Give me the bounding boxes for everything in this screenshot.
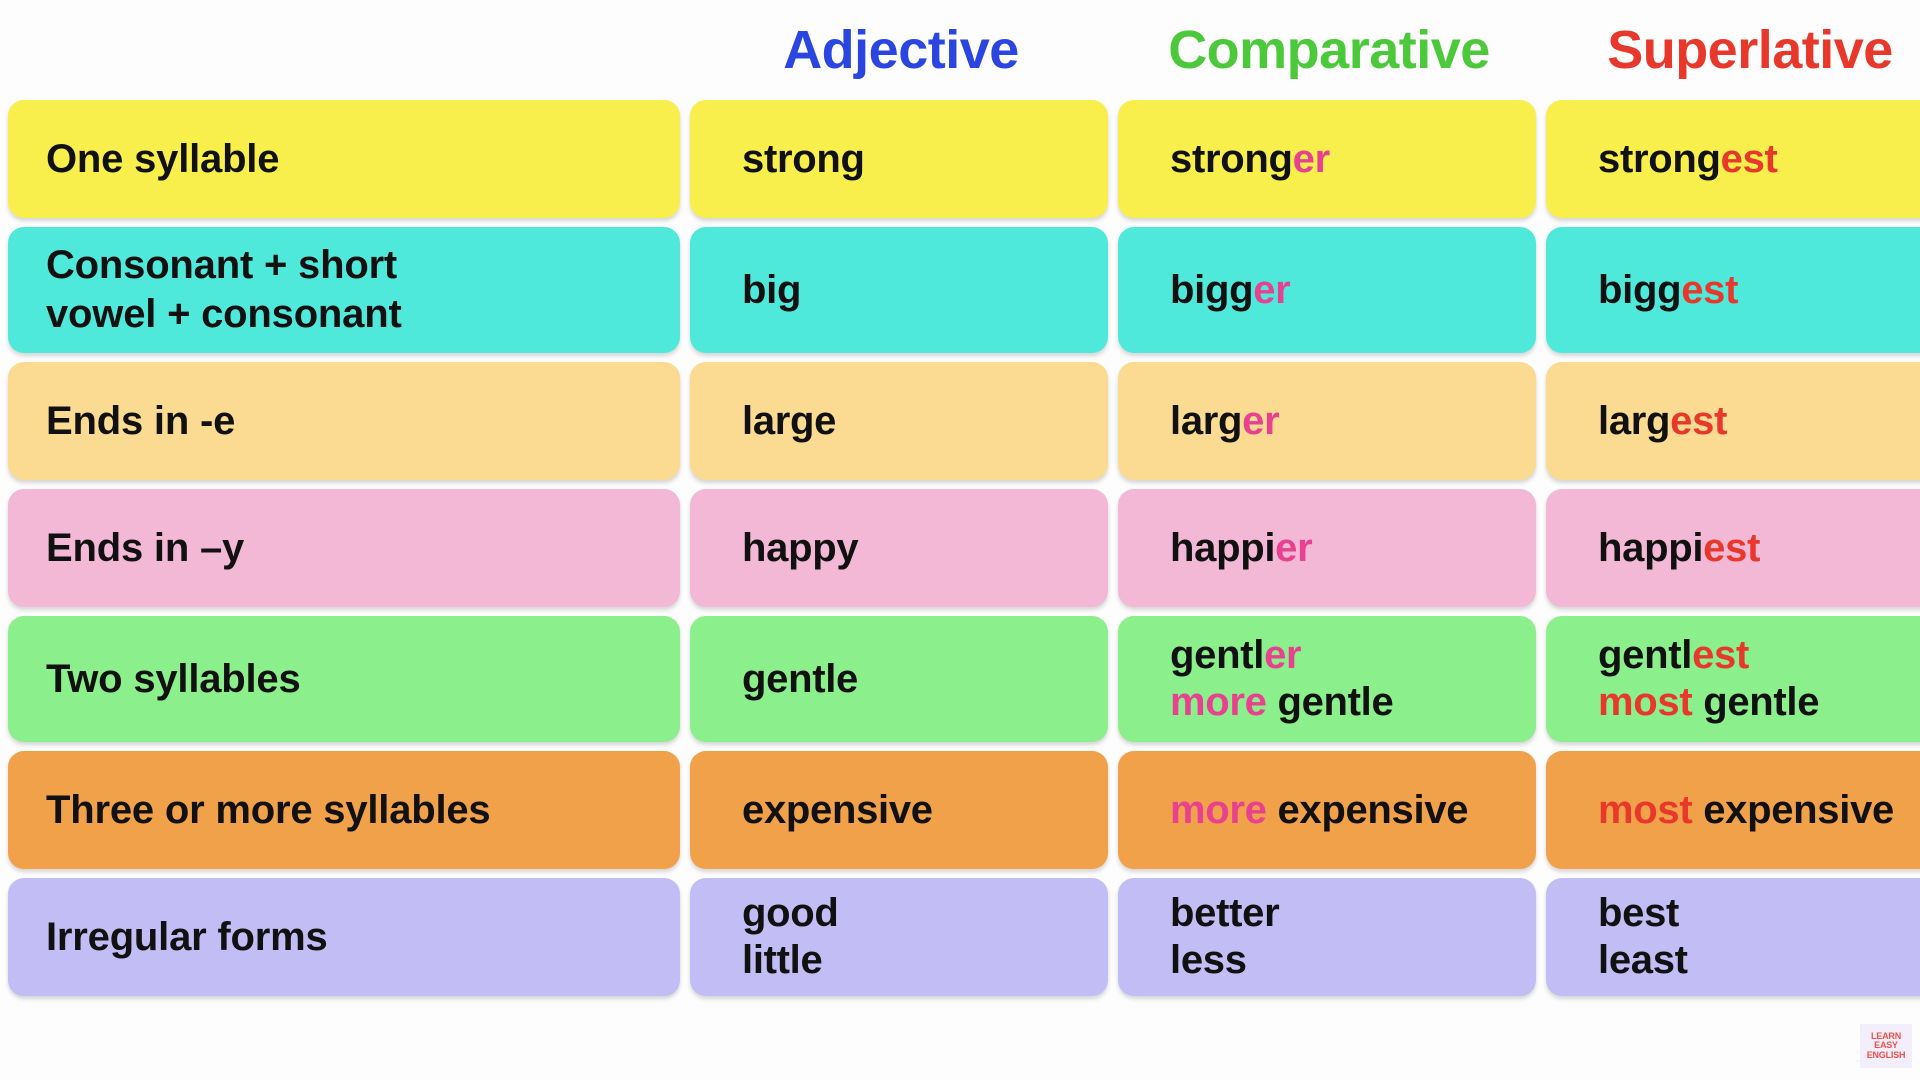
header-adjective: Adjective [692, 23, 1110, 77]
comparative-alt-rest: gentle [1277, 680, 1393, 724]
comparative-cell: gentler more gentle [1118, 616, 1536, 742]
superlative-word: strongest [1598, 135, 1778, 183]
superlative-cell: biggest [1546, 227, 1920, 353]
superlative-suffix: est [1721, 137, 1778, 181]
comparative-word-line1: better [1170, 890, 1279, 937]
table-row: Three or more syllables expensive more e… [8, 751, 1912, 869]
comparative-word-line2: less [1170, 937, 1247, 984]
adjective-cell: strong [690, 100, 1108, 218]
comparative-word: larger [1170, 397, 1279, 445]
adjective-word: expensive [742, 786, 933, 834]
adjective-comparison-table: Adjective Comparative Superlative One sy… [0, 0, 1920, 1080]
rule-label: Ends in -e [46, 397, 235, 446]
rule-label: Two syllables [46, 655, 301, 704]
rule-label: Irregular forms [46, 913, 328, 962]
table-header-row: Adjective Comparative Superlative [8, 0, 1912, 100]
superlative-cell: most expensive [1546, 751, 1920, 869]
rule-label: One syllable [46, 135, 279, 184]
superlative-base: gentl [1598, 633, 1692, 677]
comparative-base: bigg [1170, 268, 1253, 312]
watermark-line3: ENGLISH [1867, 1051, 1906, 1060]
rule-cell: Ends in -e [8, 362, 680, 480]
superlative-cell: best least [1546, 878, 1920, 996]
comparative-base: gentl [1170, 633, 1264, 677]
comparative-cell: bigger [1118, 227, 1536, 353]
comparative-word: bigger [1170, 266, 1290, 314]
superlative-cell: happiest [1546, 489, 1920, 607]
learn-easy-english-watermark: LEARN EASY ENGLISH [1860, 1024, 1912, 1068]
comparative-suffix: er [1242, 399, 1279, 443]
superlative-most-word: most [1598, 788, 1692, 832]
comparative-more-word: more [1170, 680, 1267, 724]
adjective-word: large [742, 397, 836, 445]
superlative-word: most expensive [1598, 786, 1894, 834]
comparative-base: strong [1170, 137, 1293, 181]
adjective-word: big [742, 266, 801, 314]
superlative-word-suffix-form: gentlest [1598, 632, 1749, 679]
superlative-most-word: most [1598, 680, 1692, 724]
table-row: Irregular forms good little better less … [8, 878, 1912, 996]
table-row: Consonant + short vowel + consonant big … [8, 227, 1912, 353]
adjective-word: gentle [742, 655, 858, 703]
table-row: One syllable strong stronger strongest [8, 100, 1912, 218]
superlative-suffix: est [1670, 399, 1727, 443]
rule-label: Ends in –y [46, 524, 244, 573]
adjective-word: happy [742, 524, 858, 572]
rule-label-line1: Consonant + short [46, 241, 397, 290]
comparative-base: happi [1170, 526, 1275, 570]
superlative-word-line1: best [1598, 890, 1679, 937]
comparative-cell: happier [1118, 489, 1536, 607]
superlative-suffix: est [1703, 526, 1760, 570]
rule-cell: Irregular forms [8, 878, 680, 996]
superlative-word-periphrastic-form: most gentle [1598, 679, 1819, 726]
comparative-cell: stronger [1118, 100, 1536, 218]
comparative-word: happier [1170, 524, 1312, 572]
comparative-cell: larger [1118, 362, 1536, 480]
adjective-cell: expensive [690, 751, 1108, 869]
superlative-word: happiest [1598, 524, 1760, 572]
superlative-alt-rest: gentle [1703, 680, 1819, 724]
comparative-word: stronger [1170, 135, 1330, 183]
rule-cell: Two syllables [8, 616, 680, 742]
comparative-more-word: more [1170, 788, 1267, 832]
comparative-cell: better less [1118, 878, 1536, 996]
comparative-cell: more expensive [1118, 751, 1536, 869]
superlative-base: happi [1598, 526, 1703, 570]
rule-cell: Consonant + short vowel + consonant [8, 227, 680, 353]
comparative-suffix: er [1293, 137, 1330, 181]
rule-cell: Ends in –y [8, 489, 680, 607]
header-comparative: Comparative [1120, 23, 1538, 77]
header-superlative: Superlative [1548, 23, 1920, 77]
table-row: Ends in –y happy happier happiest [8, 489, 1912, 607]
rule-cell: One syllable [8, 100, 680, 218]
table-row: Two syllables gentle gentler more gentle… [8, 616, 1912, 742]
superlative-word: biggest [1598, 266, 1738, 314]
superlative-suffix: est [1681, 268, 1738, 312]
rule-cell: Three or more syllables [8, 751, 680, 869]
adjective-word-line2: little [742, 937, 822, 984]
superlative-word-line2: least [1598, 937, 1688, 984]
comparative-suffix: er [1275, 526, 1312, 570]
rule-label-line2: vowel + consonant [46, 290, 402, 339]
comparative-suffix: er [1253, 268, 1290, 312]
adjective-word: strong [742, 135, 865, 183]
adjective-cell: good little [690, 878, 1108, 996]
comparative-word-periphrastic-form: more gentle [1170, 679, 1393, 726]
table-body: One syllable strong stronger strongest C… [8, 100, 1912, 996]
superlative-base: strong [1598, 137, 1721, 181]
comparative-word-suffix-form: gentler [1170, 632, 1301, 679]
adjective-word-line1: good [742, 890, 839, 937]
comparative-word: more expensive [1170, 786, 1468, 834]
superlative-cell: gentlest most gentle [1546, 616, 1920, 742]
rule-label: Three or more syllables [46, 786, 490, 835]
comparative-rest: expensive [1277, 788, 1468, 832]
superlative-cell: strongest [1546, 100, 1920, 218]
adjective-cell: gentle [690, 616, 1108, 742]
superlative-base: larg [1598, 399, 1670, 443]
superlative-base: bigg [1598, 268, 1681, 312]
superlative-suffix: est [1692, 633, 1749, 677]
superlative-cell: largest [1546, 362, 1920, 480]
comparative-base: larg [1170, 399, 1242, 443]
table-row: Ends in -e large larger largest [8, 362, 1912, 480]
adjective-cell: big [690, 227, 1108, 353]
adjective-cell: happy [690, 489, 1108, 607]
adjective-cell: large [690, 362, 1108, 480]
superlative-word: largest [1598, 397, 1727, 445]
superlative-rest: expensive [1703, 788, 1894, 832]
comparative-suffix: er [1264, 633, 1301, 677]
